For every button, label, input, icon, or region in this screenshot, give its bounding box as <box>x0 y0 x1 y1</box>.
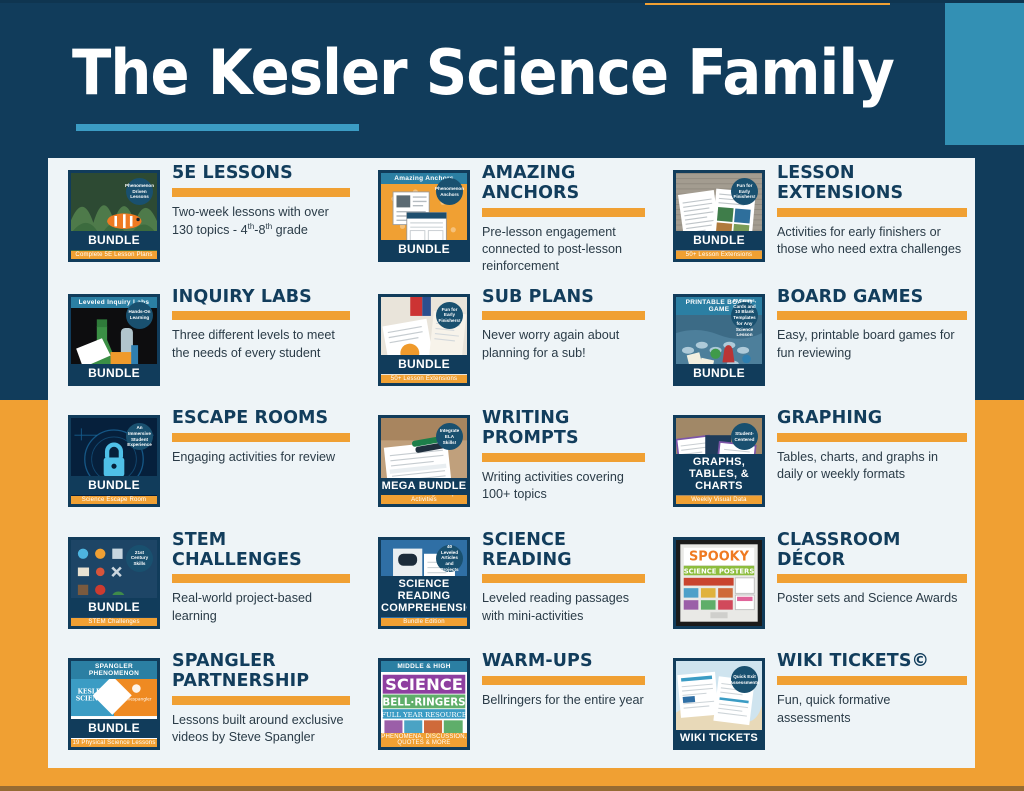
product-item[interactable]: Phenomenon Driven LessonsComplete 5E Les… <box>48 158 358 282</box>
product-text: GRAPHING Tables, charts, and graphs in d… <box>765 409 967 484</box>
product-description: Real-world project-based learning <box>172 590 350 625</box>
page-title: The Kesler Science Family <box>72 36 894 109</box>
svg-text:stevespangler: stevespangler <box>121 697 152 703</box>
product-text: CLASSROOM DÉCOR Poster sets and Science … <box>765 531 967 608</box>
thumb-caption: BUNDLE <box>381 355 467 374</box>
product-text: STEM CHALLENGES Real-world project-based… <box>160 531 350 625</box>
title-accent-bar <box>172 574 350 583</box>
title-accent-bar <box>172 311 350 320</box>
title-accent-bar <box>482 208 645 217</box>
thumb-subcaption: 50+ Lesson Extensions <box>381 375 467 383</box>
thumb-badge: An Immersive Student Experience <box>126 423 153 450</box>
svg-text:FULL YEAR RESOURCE: FULL YEAR RESOURCE <box>381 711 467 719</box>
thumb-caption: WIKI TICKETS <box>676 730 762 747</box>
product-thumbnail[interactable]: PRINTABLE BOARD GAMEIncludes 20 Games, C… <box>673 294 765 386</box>
thumb-badge: 21st Century Skills <box>126 545 153 572</box>
product-item[interactable]: Fun for Early Finishers!50+ Lesson Exten… <box>653 158 975 282</box>
product-item[interactable]: Quick Exit AssessmentsWIKI TICKETS WIKI … <box>653 646 975 768</box>
product-thumbnail[interactable]: KESLERSCIENCEstevespangler SPANGLER PHEN… <box>68 658 160 750</box>
title-accent-bar <box>777 676 967 685</box>
thumbnail-artwork: SPOOKYSCIENCE POSTERS <box>676 540 762 626</box>
product-description: Tables, charts, and graphs in daily or w… <box>777 449 967 484</box>
product-title: GRAPHING <box>777 409 967 429</box>
thumb-topcaption: SPANGLER PHENOMENON <box>71 661 157 679</box>
svg-text:SCIENCE: SCIENCE <box>385 676 463 695</box>
product-item[interactable]: Fun for Early Finishers!50+ Lesson Exten… <box>358 282 653 404</box>
title-accent-bar <box>172 696 350 705</box>
product-thumbnail[interactable]: Fun for Early Finishers!50+ Lesson Exten… <box>378 294 470 386</box>
product-description: Fun, quick formative assessments <box>777 692 967 727</box>
thumb-badge: Hands-On Learning <box>126 302 153 329</box>
product-title: ESCAPE ROOMS <box>172 409 350 429</box>
product-title: WIKI TICKETS© <box>777 652 967 672</box>
product-text: BOARD GAMES Easy, printable board games … <box>765 288 967 363</box>
title-accent-bar <box>777 311 967 320</box>
product-text: 5E LESSONS Two-week lessons with over 13… <box>160 164 350 240</box>
svg-text:KESLER: KESLER <box>78 689 107 696</box>
thumb-caption: BUNDLE <box>71 364 157 383</box>
title-accent-bar <box>482 311 645 320</box>
product-text: SPANGLER PARTNERSHIP Lessons built aroun… <box>160 652 350 746</box>
product-item[interactable]: Integrate ELA Skills!Science Writing Pro… <box>358 403 653 525</box>
product-text: WRITING PROMPTS Writing activities cover… <box>470 409 645 503</box>
product-thumbnail[interactable]: SPOOKYSCIENCE POSTERS <box>673 537 765 629</box>
thumb-subcaption: Weekly Visual Data <box>676 496 762 504</box>
thumb-subcaption: Complete 5E Lesson Plans <box>71 251 157 259</box>
thumb-subcaption: 50+ Lesson Extensions <box>676 251 762 259</box>
thumb-caption: BUNDLE <box>381 240 467 259</box>
background-teal-corner <box>945 2 1024 145</box>
product-title: 5E LESSONS <box>172 164 350 184</box>
thumb-badge: Phenomenon Anchors <box>436 178 463 205</box>
thumb-caption: BUNDLE <box>676 231 762 250</box>
product-item[interactable]: SPOOKYSCIENCE POSTERS CLASSROOM DÉCOR Po… <box>653 525 975 647</box>
product-text: WARM-UPS Bellringers for the entire year <box>470 652 645 709</box>
product-item[interactable]: Student-CenteredWeekly Visual DataGRAPHS… <box>653 403 975 525</box>
product-title: INQUIRY LABS <box>172 288 350 308</box>
product-thumbnail[interactable]: MIDDLE & HIGHSCIENCEBELL·RINGERSFULL YEA… <box>378 658 470 750</box>
product-title: LESSON EXTENSIONS <box>777 164 967 204</box>
product-item[interactable]: 21st Century SkillsSTEM ChallengesBUNDLE… <box>48 525 358 647</box>
title-accent-bar <box>777 208 967 217</box>
thumb-badge: Phenomenon Driven Lessons <box>126 178 153 205</box>
product-title: WARM-UPS <box>482 652 645 672</box>
svg-text:SPOOKY: SPOOKY <box>689 549 750 564</box>
thumb-badge: Fun for Early Finishers! <box>436 302 463 329</box>
title-accent-bar <box>482 574 645 583</box>
product-description: Two-week lessons with over 130 topics - … <box>172 204 350 240</box>
thumb-badge: Fun for Early Finishers! <box>731 178 758 205</box>
product-thumbnail[interactable]: Fun for Early Finishers!50+ Lesson Exten… <box>673 170 765 262</box>
product-text: AMAZING ANCHORS Pre-lesson engagement co… <box>470 164 645 276</box>
product-thumbnail[interactable]: An Immersive Student ExperienceScience E… <box>68 415 160 507</box>
product-description: Easy, printable board games for fun revi… <box>777 327 967 362</box>
thumb-subcaption: Science Escape Room <box>71 496 157 504</box>
thumb-subcaption: 19 Physical Science Lessons <box>71 739 157 747</box>
thumb-topcaption: MIDDLE & HIGH <box>381 661 467 672</box>
product-thumbnail[interactable]: Leveled Inquiry LabsHands-On LearningBUN… <box>68 294 160 386</box>
product-description: Pre-lesson engagement connected to post-… <box>482 224 645 276</box>
product-description: Three different levels to meet the needs… <box>172 327 350 362</box>
thumb-caption: BUNDLE <box>71 231 157 250</box>
product-item[interactable]: 40 Leveled Articles and ProjectsBundle E… <box>358 525 653 647</box>
thumb-caption: MEGA BUNDLE <box>381 478 467 495</box>
thumb-caption: BUNDLE <box>71 719 157 738</box>
product-description: Poster sets and Science Awards <box>777 590 967 607</box>
product-item[interactable]: Amazing AnchorsPhenomenon AnchorsBUNDLE … <box>358 158 653 282</box>
svg-text:SCIENCE POSTERS: SCIENCE POSTERS <box>684 567 755 575</box>
thumb-caption: GRAPHS, TABLES, & CHARTS <box>676 454 762 495</box>
product-item[interactable]: KESLERSCIENCEstevespangler SPANGLER PHEN… <box>48 646 358 768</box>
title-accent-bar <box>777 433 967 442</box>
thumb-caption: SCIENCE READING COMPREHENSION <box>381 576 467 617</box>
product-description: Engaging activities for review <box>172 449 350 466</box>
thumb-caption: BUNDLE <box>676 364 762 383</box>
product-title: CLASSROOM DÉCOR <box>777 531 967 571</box>
product-grid: Phenomenon Driven LessonsComplete 5E Les… <box>48 158 975 768</box>
product-thumbnail[interactable]: Student-CenteredWeekly Visual DataGRAPHS… <box>673 415 765 507</box>
title-accent-bar <box>172 188 350 197</box>
product-item[interactable]: PRINTABLE BOARD GAMEIncludes 20 Games, C… <box>653 282 975 404</box>
product-description: Never worry again about planning for a s… <box>482 327 645 362</box>
product-description: Lessons built around exclusive videos by… <box>172 712 350 747</box>
product-thumbnail[interactable]: Quick Exit AssessmentsWIKI TICKETS <box>673 658 765 750</box>
product-description: Bellringers for the entire year <box>482 692 645 709</box>
product-title: WRITING PROMPTS <box>482 409 645 449</box>
product-text: SUB PLANS Never worry again about planni… <box>470 288 645 363</box>
svg-text:SCIENCE: SCIENCE <box>76 696 108 703</box>
product-title: SCIENCE READING <box>482 531 645 571</box>
thumb-badge: Includes 20 Games, Cards and 10 Blank Te… <box>731 302 758 329</box>
product-item[interactable]: An Immersive Student ExperienceScience E… <box>48 403 358 525</box>
thumb-badge: 40 Leveled Articles and Projects <box>436 545 463 572</box>
header: The Kesler Science Family <box>0 0 945 152</box>
product-text: SCIENCE READING Leveled reading passages… <box>470 531 645 625</box>
thumb-subcaption: PHENOMENA, DISCUSSION, QUOTES & MORE <box>381 733 467 747</box>
svg-text:BELL·RINGERS: BELL·RINGERS <box>382 697 465 709</box>
product-title: SUB PLANS <box>482 288 645 308</box>
product-title: BOARD GAMES <box>777 288 967 308</box>
product-thumbnail[interactable]: Amazing AnchorsPhenomenon AnchorsBUNDLE <box>378 170 470 262</box>
product-item[interactable]: Leveled Inquiry LabsHands-On LearningBUN… <box>48 282 358 404</box>
product-description: Activities for early finishers or those … <box>777 224 967 259</box>
product-title: STEM CHALLENGES <box>172 531 350 571</box>
thumb-caption: BUNDLE <box>71 476 157 495</box>
thumb-caption: BUNDLE <box>71 598 157 617</box>
product-thumbnail[interactable]: 21st Century SkillsSTEM ChallengesBUNDLE <box>68 537 160 629</box>
product-item[interactable]: MIDDLE & HIGHSCIENCEBELL·RINGERSFULL YEA… <box>358 646 653 768</box>
product-thumbnail[interactable]: Phenomenon Driven LessonsComplete 5E Les… <box>68 170 160 262</box>
product-thumbnail[interactable]: Integrate ELA Skills!Science Writing Pro… <box>378 415 470 507</box>
title-accent-bar <box>172 433 350 442</box>
title-accent-bar <box>777 574 967 583</box>
title-underline <box>76 124 359 131</box>
product-title: SPANGLER PARTNERSHIP <box>172 652 350 692</box>
product-thumbnail[interactable]: 40 Leveled Articles and ProjectsBundle E… <box>378 537 470 629</box>
product-description: Writing activities covering 100+ topics <box>482 469 645 504</box>
title-accent-bar <box>482 453 645 462</box>
product-text: INQUIRY LABS Three different levels to m… <box>160 288 350 363</box>
product-text: LESSON EXTENSIONS Activities for early f… <box>765 164 967 258</box>
title-accent-bar <box>482 676 645 685</box>
product-text: WIKI TICKETS© Fun, quick formative asses… <box>765 652 967 727</box>
product-text: ESCAPE ROOMS Engaging activities for rev… <box>160 409 350 466</box>
product-description: Leveled reading passages with mini-activ… <box>482 590 645 625</box>
product-card-panel: Phenomenon Driven LessonsComplete 5E Les… <box>48 158 975 768</box>
thumb-subcaption: STEM Challenges <box>71 618 157 626</box>
background-bottom-shadow <box>0 786 1024 791</box>
thumb-subcaption: Bundle Edition <box>381 618 467 626</box>
product-title: AMAZING ANCHORS <box>482 164 645 204</box>
